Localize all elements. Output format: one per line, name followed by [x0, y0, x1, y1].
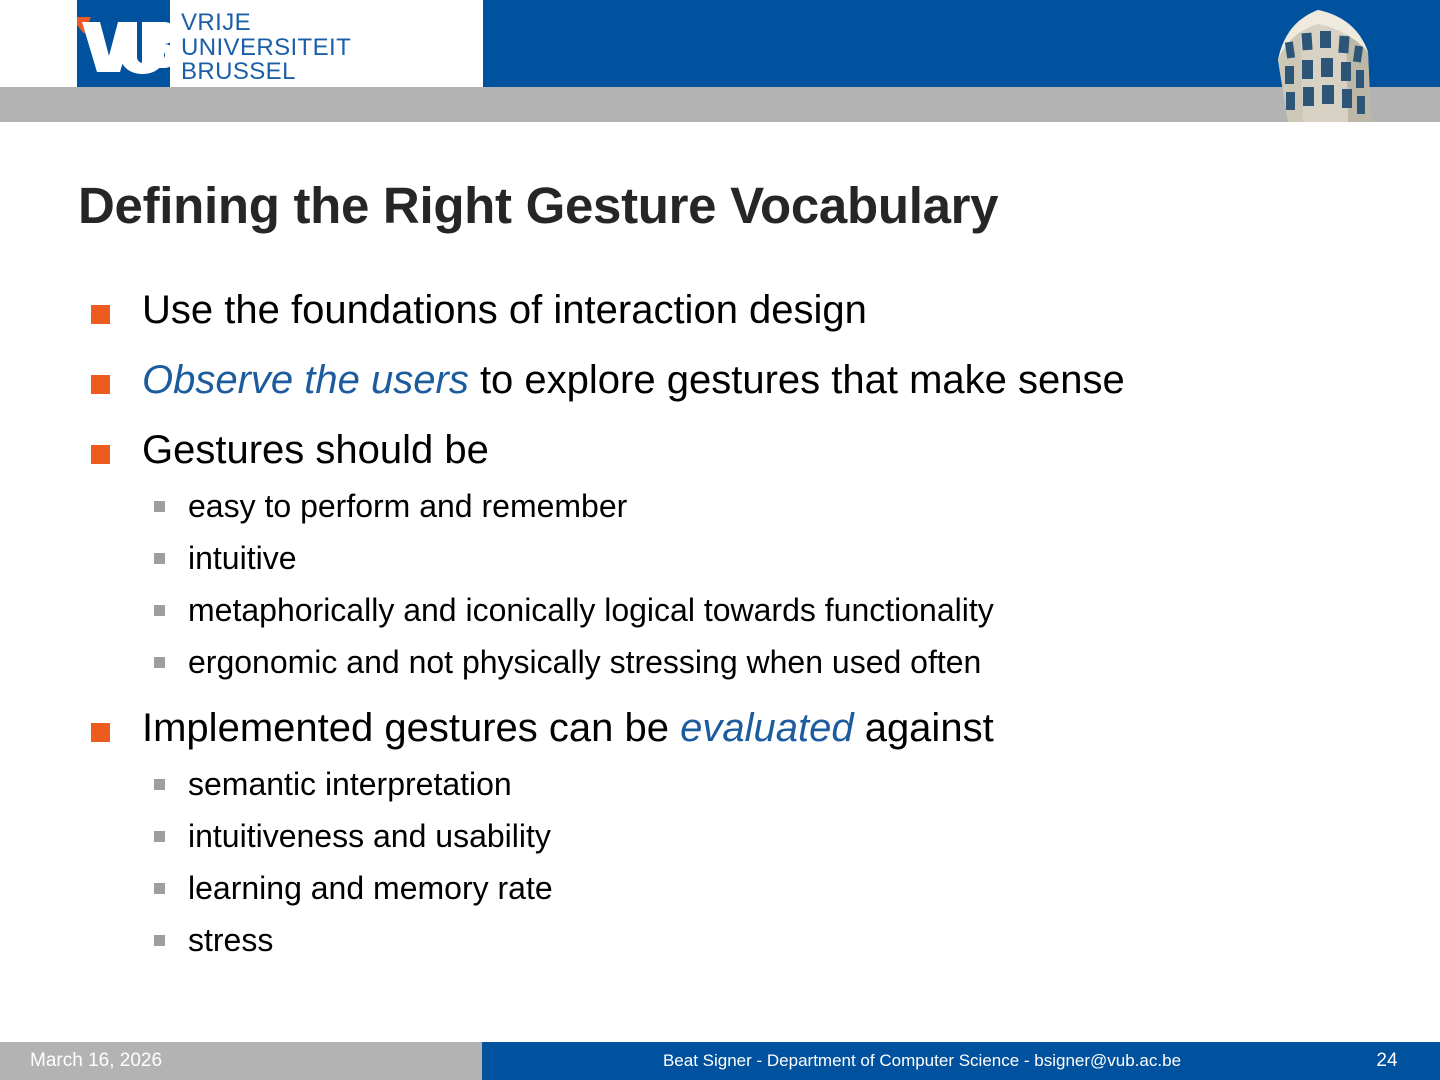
bullet-level1: Implemented gestures can be evaluated ag…	[0, 706, 1440, 750]
small-square-bullet-icon	[154, 501, 165, 512]
bullet-level2: intuitive	[0, 532, 1440, 584]
bullet-text-accent: evaluated	[680, 706, 853, 750]
small-square-bullet-icon	[154, 883, 165, 894]
vub-logo: VRIJE UNIVERSITEIT BRUSSEL	[77, 0, 483, 87]
sub-bullet-text: learning and memory rate	[188, 870, 553, 906]
sub-bullet-text: semantic interpretation	[188, 766, 512, 802]
small-square-bullet-icon	[154, 831, 165, 842]
footer-date: March 16, 2026	[30, 1042, 162, 1080]
sub-bullet-list: semantic interpretation intuitiveness an…	[0, 758, 1440, 966]
slide-title: Defining the Right Gesture Vocabulary	[78, 176, 1378, 235]
sub-bullet-text: intuitive	[188, 540, 297, 576]
small-square-bullet-icon	[154, 657, 165, 668]
bullet-level1: Observe the users to explore gestures th…	[0, 358, 1440, 402]
square-bullet-icon	[91, 375, 110, 394]
slide-footer: March 16, 2026 Beat Signer - Department …	[0, 1042, 1440, 1080]
bullet-text: Implemented gestures can be	[142, 706, 680, 750]
footer-author-info: Beat Signer - Department of Computer Sci…	[482, 1042, 1362, 1080]
slide-header: VRIJE UNIVERSITEIT BRUSSEL	[0, 0, 1440, 122]
bullet-text-accent: Observe the users	[142, 358, 469, 402]
sub-bullet-text: metaphorically and iconically logical to…	[188, 592, 994, 628]
bullet-level2: stress	[0, 914, 1440, 966]
bullet-level1: Use the foundations of interaction desig…	[0, 288, 1440, 332]
bullet-level2: easy to perform and remember	[0, 480, 1440, 532]
sub-bullet-text: intuitiveness and usability	[188, 818, 551, 854]
bullet-text: to explore gestures that make sense	[469, 358, 1125, 402]
building-photo	[1228, 0, 1400, 122]
sub-bullet-list: easy to perform and remember intuitive m…	[0, 480, 1440, 688]
footer-page-number: 24	[1362, 1042, 1412, 1080]
bullet-level2: metaphorically and iconically logical to…	[0, 584, 1440, 636]
bullet-level1: Gestures should be	[0, 428, 1440, 472]
bullet-text: against	[854, 706, 994, 750]
bullet-level2: ergonomic and not physically stressing w…	[0, 636, 1440, 688]
bullet-text: Use the foundations of interaction desig…	[142, 288, 867, 332]
header-gray-band	[0, 87, 1440, 122]
slide-body: Use the foundations of interaction desig…	[0, 288, 1440, 984]
bullet-level2: intuitiveness and usability	[0, 810, 1440, 862]
small-square-bullet-icon	[154, 553, 165, 564]
vub-wordmark-icon	[77, 0, 170, 87]
sub-bullet-text: easy to perform and remember	[188, 488, 627, 524]
square-bullet-icon	[91, 305, 110, 324]
bullet-text: Gestures should be	[142, 428, 489, 472]
square-bullet-icon	[91, 723, 110, 742]
sub-bullet-text: ergonomic and not physically stressing w…	[188, 644, 981, 680]
small-square-bullet-icon	[154, 605, 165, 616]
bullet-level2: semantic interpretation	[0, 758, 1440, 810]
bullet-level2: learning and memory rate	[0, 862, 1440, 914]
sub-bullet-text: stress	[188, 922, 273, 958]
small-square-bullet-icon	[154, 935, 165, 946]
square-bullet-icon	[91, 445, 110, 464]
small-square-bullet-icon	[154, 779, 165, 790]
logo-wordmark-text: VRIJE UNIVERSITEIT BRUSSEL	[181, 11, 351, 85]
